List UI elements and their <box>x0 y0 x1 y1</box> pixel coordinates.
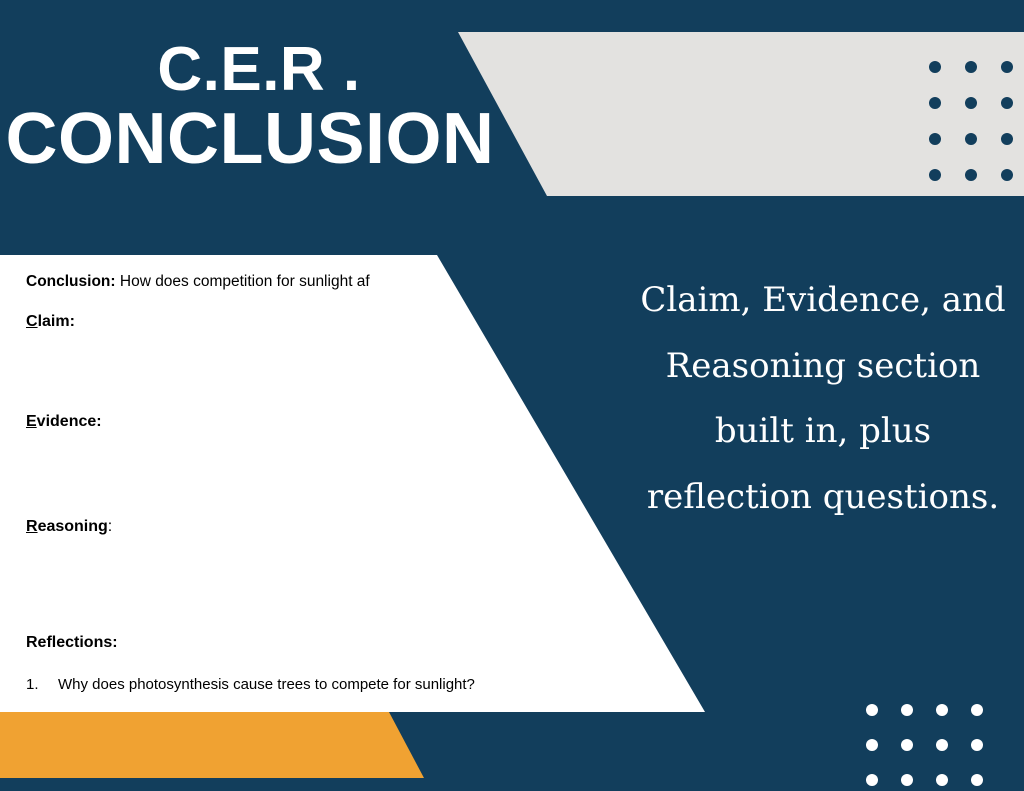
worksheet-conclusion-row: Conclusion: How does competition for sun… <box>26 273 370 292</box>
decorative-dot <box>965 133 977 145</box>
decorative-dot <box>901 704 913 716</box>
decorative-dot <box>901 739 913 751</box>
decorative-dot <box>929 61 941 73</box>
evidence-label-initial: E <box>26 413 37 430</box>
claim-label-initial: C <box>26 313 38 330</box>
reasoning-label-initial: R <box>26 518 38 535</box>
decorative-dot <box>866 739 878 751</box>
worksheet-question-1: 1.Why does photosynthesis cause trees to… <box>26 676 475 694</box>
decorative-dot <box>866 774 878 786</box>
title-line-conclusion: CONCLUSION <box>0 103 500 176</box>
evidence-label-rest: vidence: <box>37 413 102 430</box>
question-1-text: Why does photosynthesis cause trees to c… <box>58 676 475 693</box>
caption-text: Claim, Evidence, and Reasoning section b… <box>628 268 1018 530</box>
decorative-dot <box>1001 169 1013 181</box>
decorative-dot <box>929 97 941 109</box>
decorative-dot <box>901 774 913 786</box>
decorative-dot <box>1001 133 1013 145</box>
decorative-dot <box>936 704 948 716</box>
question-1-number: 1. <box>26 676 58 694</box>
decorative-dot <box>965 97 977 109</box>
decorative-dot <box>965 169 977 181</box>
reflections-label: Reflections: <box>26 634 118 651</box>
decorative-dot <box>866 704 878 716</box>
decorative-dot <box>971 739 983 751</box>
decorative-dot <box>971 774 983 786</box>
decorative-dot <box>936 774 948 786</box>
conclusion-label: Conclusion: <box>26 273 116 290</box>
reasoning-colon: : <box>108 518 112 535</box>
decorative-dot <box>1001 61 1013 73</box>
decorative-dot <box>929 169 941 181</box>
slide-title: C.E.R . CONCLUSION <box>0 38 500 177</box>
slide-canvas: C.E.R . CONCLUSION Conclusion: How does … <box>0 0 1024 791</box>
claim-label-rest: laim: <box>38 313 75 330</box>
conclusion-prompt: How does competition for sunlight af <box>120 273 370 290</box>
decorative-dot <box>929 133 941 145</box>
decorative-dot <box>936 739 948 751</box>
decorative-dot <box>965 61 977 73</box>
worksheet-evidence-row: Evidence: <box>26 412 102 431</box>
worksheet-claim-row: Claim: <box>26 312 75 331</box>
reasoning-label-rest: easoning <box>38 518 108 535</box>
title-line-cer: C.E.R . <box>0 38 500 101</box>
decorative-dot <box>971 704 983 716</box>
worksheet-reflections-heading: Reflections: <box>26 633 118 652</box>
dot-grid-bottom-right <box>866 704 1006 791</box>
orange-accent-shape <box>0 712 424 778</box>
decorative-dot <box>1001 97 1013 109</box>
dot-grid-top-right <box>929 61 1024 205</box>
worksheet-reasoning-row: Reasoning: <box>26 517 112 536</box>
